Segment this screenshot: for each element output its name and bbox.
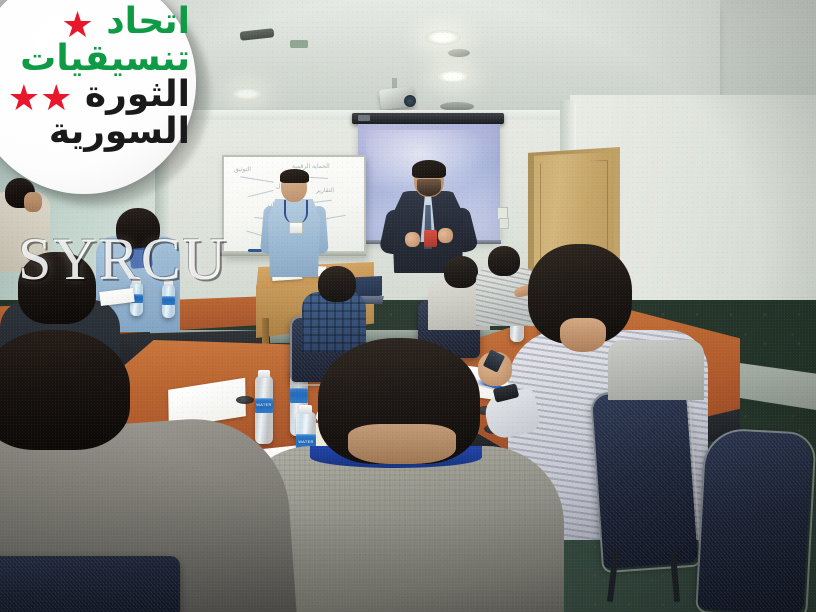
logo-line-3: الثورة ★★ [0, 77, 198, 114]
logo-line-4: السورية [0, 114, 198, 151]
chair-frame [590, 387, 702, 574]
logo-line-1-text: اتحاد [106, 1, 190, 42]
projection-screen-housing [352, 113, 504, 124]
attendee-face [24, 192, 42, 212]
ceiling-downlight-icon [437, 70, 469, 83]
attendee-center-checked-torso [476, 268, 536, 326]
projection-screen-housing-cap [358, 115, 370, 121]
logo-line-2-text: تنسيقيات [20, 38, 190, 79]
bottle-label-text: WATER [296, 439, 316, 444]
presenter-hand-right [438, 228, 453, 243]
ceiling-sensor-icon [290, 40, 308, 48]
wall-outlet-icon [499, 218, 509, 229]
attendee-neck [348, 424, 456, 464]
syrcu-watermark: SYRCU [18, 225, 228, 294]
chair[interactable] [0, 556, 180, 612]
presenter-beard [417, 179, 441, 196]
ceiling-downlight-icon [425, 30, 461, 45]
whiteboard-marker-icon [248, 249, 262, 252]
presenter-hair [412, 160, 446, 178]
bottle-cap [299, 405, 312, 414]
name-badge [289, 222, 303, 234]
presenter-held-object [424, 230, 437, 247]
bottle-cap [258, 370, 270, 378]
lanyard [284, 200, 308, 224]
attendee-right-far-torso [608, 340, 704, 400]
attendee-back-plaid-head [318, 266, 356, 302]
ceiling-fixture-icon [448, 49, 470, 57]
logo-line-4-text: السورية [49, 111, 190, 152]
co-trainer-hair [280, 169, 309, 183]
logo-line-2: تنسيقيات [0, 41, 198, 78]
presenter-hand-left [405, 232, 420, 247]
bottle-label [290, 388, 308, 403]
bottle-label [162, 296, 175, 305]
attendee-right-grey-head [444, 256, 478, 288]
attendee-center-checked-head [488, 246, 520, 276]
attendee-neck [560, 318, 606, 352]
logo-text-block: اتحاد ★ تنسيقيات الثورة ★★ السورية [0, 4, 198, 184]
attendee-foreground-left-head [0, 330, 130, 450]
bottle-label: WATER [255, 398, 273, 413]
ceiling-downlight-icon [232, 88, 262, 100]
bottle-label-text: WATER [255, 402, 273, 407]
chair-frame [695, 427, 816, 612]
coaster [236, 396, 254, 404]
photograph-canvas: التوثيق الحماية الرقمية الاتصال التقارير… [0, 0, 816, 612]
star-icon: ★ [8, 78, 40, 119]
logo-line-1: اتحاد ★ [0, 4, 198, 41]
logo-line-3-text: الثورة [85, 74, 190, 115]
projector-lens-icon [404, 95, 416, 107]
